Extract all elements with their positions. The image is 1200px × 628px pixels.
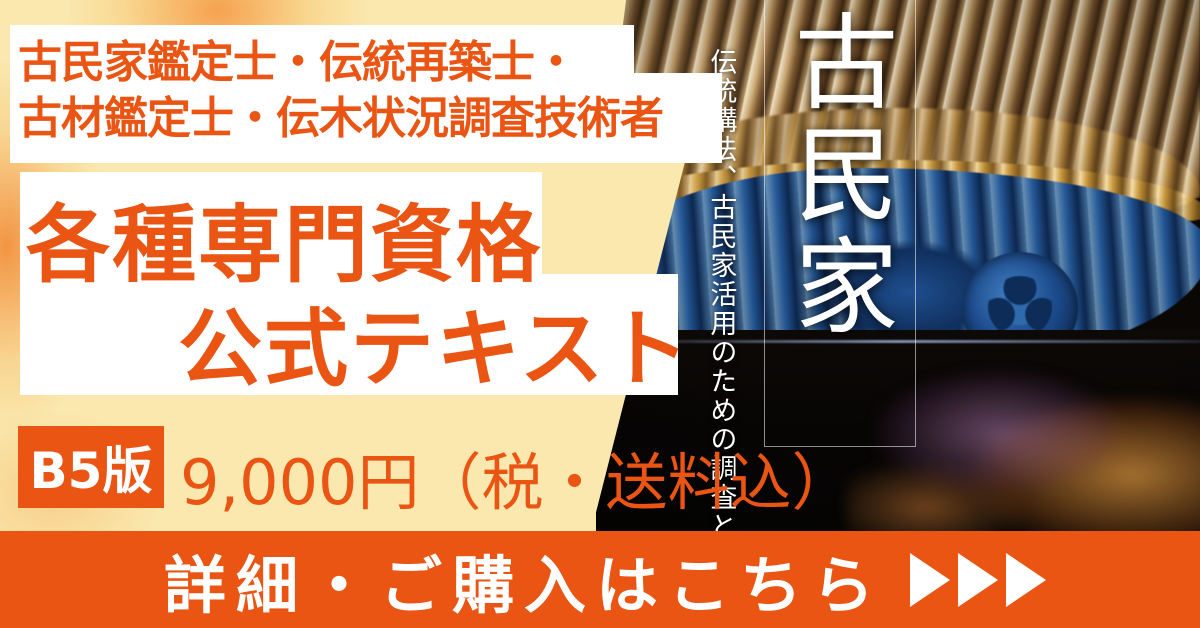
- promo-banner[interactable]: 古民家 伝統構法、古民家活用のための調査と再生の 古民家鑑定士・伝統再築士・ 古…: [0, 0, 1200, 628]
- triangle-right-icon: [910, 553, 950, 607]
- cta-bar[interactable]: 詳細・ご購入はこちら: [0, 531, 1200, 628]
- title-line-1: 各種専門資格: [26, 178, 542, 299]
- cta-label: 詳細・ご購入はこちら: [154, 535, 884, 625]
- headline-line-2: 古材鑑定士・伝木状況調査技術者: [18, 82, 663, 146]
- cover-title-vertical: 古民家: [785, 8, 895, 344]
- price-text: 9,000円（税・送料込）: [180, 432, 854, 522]
- title-line-2: 公式テキスト: [178, 282, 691, 403]
- triangle-right-icon: [958, 553, 998, 607]
- headline-line-1: 古民家鑑定士・伝統再築士・: [18, 26, 577, 90]
- triangle-right-icon: [1006, 553, 1046, 607]
- cta-arrow-group: [910, 553, 1046, 607]
- format-badge: B5版: [18, 426, 164, 508]
